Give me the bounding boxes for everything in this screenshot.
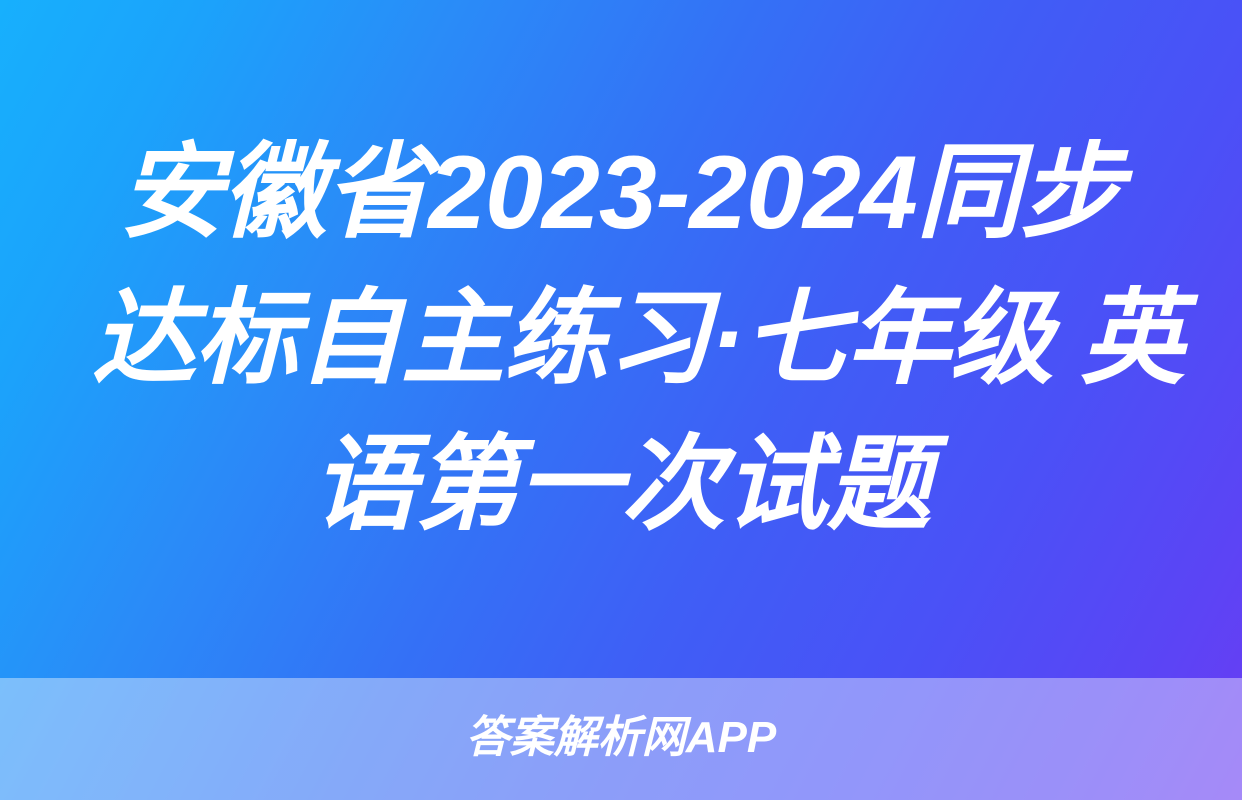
title-line-3: 语第一次试题: [92, 412, 1150, 558]
title-line-1: 安徽省2023-2024同步: [92, 120, 1150, 266]
title-line-2: 达标自主练习·七年级 英: [92, 266, 1150, 412]
title-block: 安徽省2023-2024同步 达标自主练习·七年级 英 语第一次试题: [0, 0, 1242, 678]
footer-band: 答案解析网APP: [0, 678, 1242, 800]
cover-card: 安徽省2023-2024同步 达标自主练习·七年级 英 语第一次试题 答案解析网…: [0, 0, 1242, 800]
watermark-text: 答案解析网APP: [466, 716, 776, 762]
